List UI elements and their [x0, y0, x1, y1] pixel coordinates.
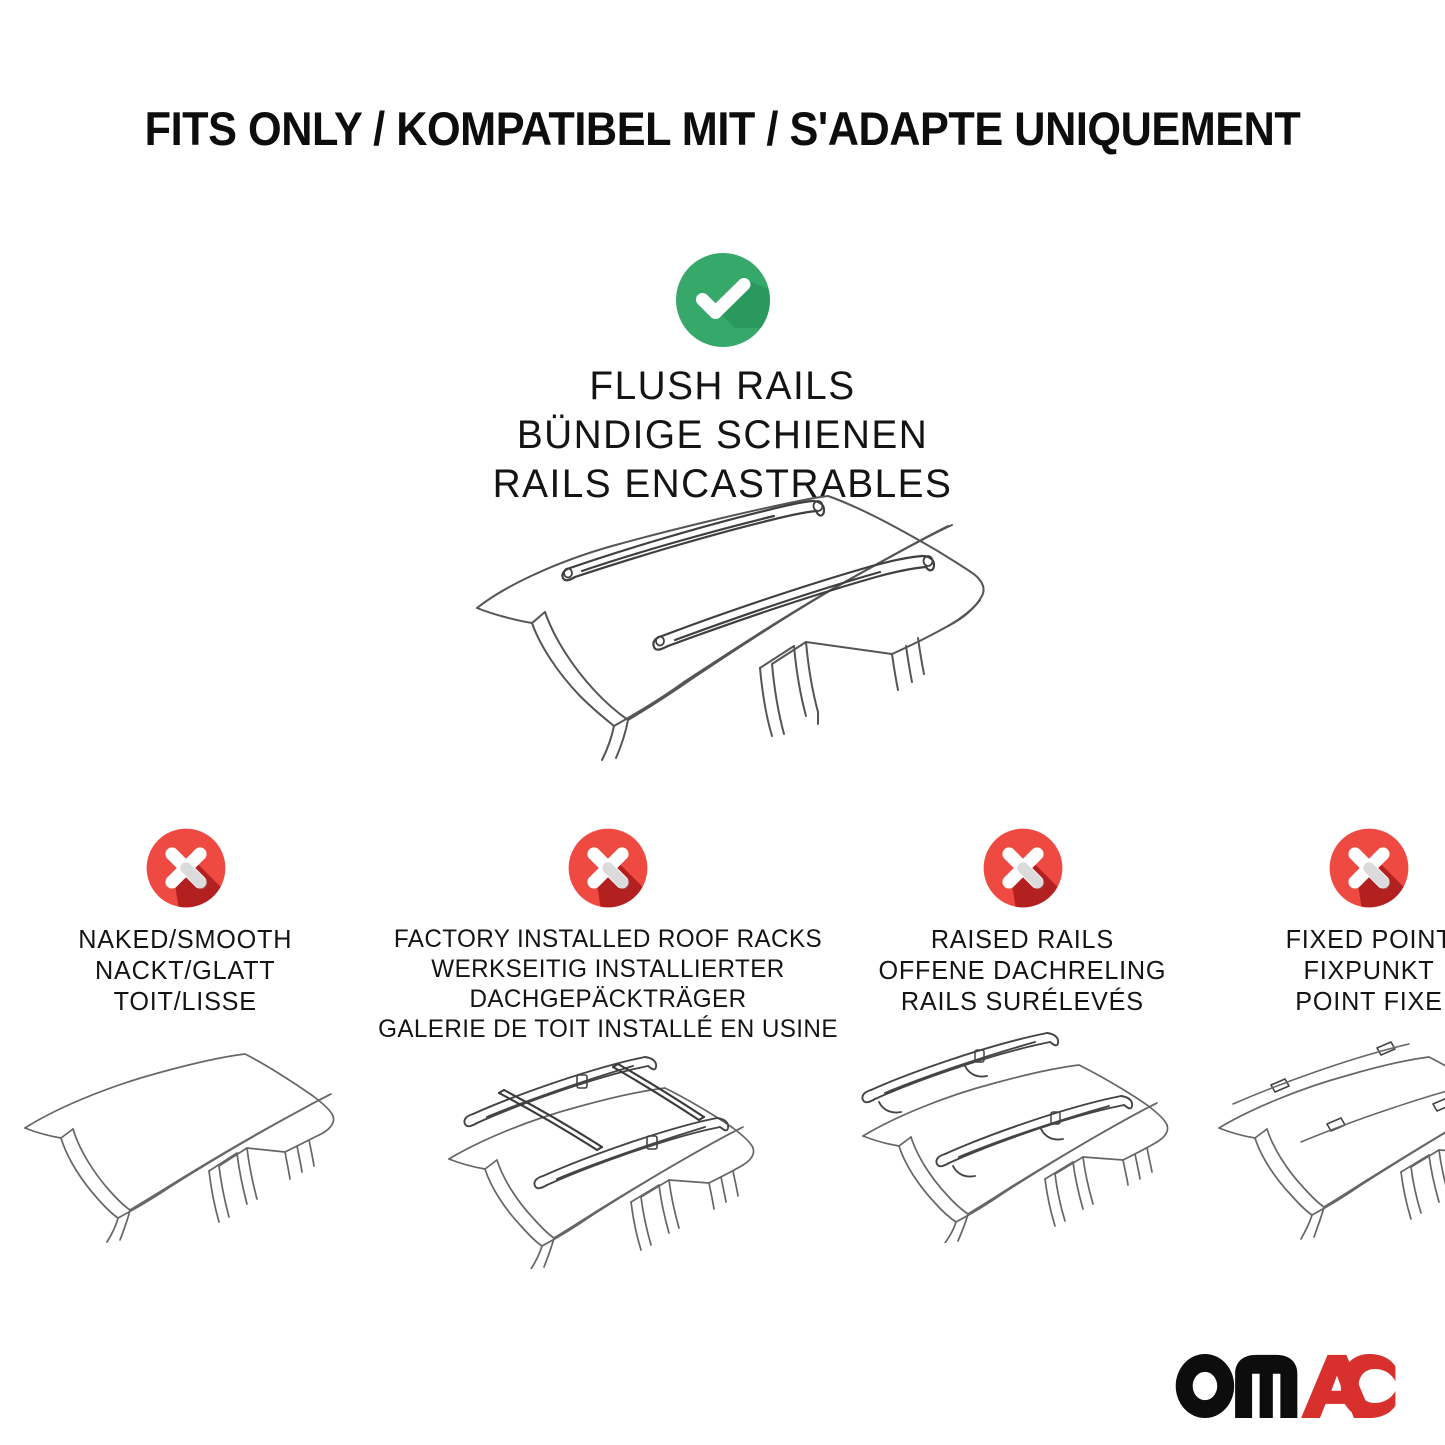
- car-roof-factory-racks-illustration: [431, 1054, 786, 1269]
- item-label-de: WERKSEITIG INSTALLIERTER: [378, 954, 838, 984]
- red-x-circle-icon: [566, 826, 650, 910]
- green-check-circle-icon: [675, 252, 771, 348]
- logo-letter-c: [1340, 1354, 1395, 1418]
- item-label-en: RAISED RAILS: [879, 924, 1167, 955]
- incompatible-section: NAKED/SMOOTH NACKT/GLATT TOIT/LISSE: [0, 826, 1445, 1269]
- logo-letter-m: [1235, 1355, 1297, 1418]
- car-roof-fixed-point-illustration: [1209, 1028, 1445, 1243]
- incompatible-item-factory-racks: FACTORY INSTALLED ROOF RACKS WERKSEITIG …: [371, 826, 845, 1269]
- car-roof-raised-rails-illustration: [845, 1028, 1200, 1243]
- fitment-infographic: FITS ONLY / KOMPATIBEL MIT / S'ADAPTE UN…: [0, 0, 1445, 1445]
- compatible-label-en: FLUSH RAILS: [22, 362, 1424, 411]
- item-labels: RAISED RAILS OFFENE DACHRELING RAILS SUR…: [874, 924, 1171, 1018]
- red-x-circle-icon: [1327, 826, 1411, 910]
- item-label-fr: TOIT/LISSE: [79, 986, 293, 1017]
- logo-letter-o: [1175, 1354, 1233, 1418]
- item-label-de: NACKT/GLATT: [79, 955, 293, 986]
- item-labels: FIXED POINT FIXPUNKT POINT FIXE: [1283, 924, 1445, 1018]
- item-label-en: FACTORY INSTALLED ROOF RACKS: [378, 924, 838, 954]
- car-roof-flush-rails-illustration: [462, 468, 1022, 768]
- incompatible-item-raised-rails: RAISED RAILS OFFENE DACHRELING RAILS SUR…: [845, 826, 1200, 1243]
- item-label-en: NAKED/SMOOTH: [79, 924, 293, 955]
- omac-logo: [1171, 1353, 1397, 1419]
- car-roof-naked-illustration: [13, 1028, 358, 1243]
- item-label-de2: DACHGEPÄCKTRÄGER: [378, 984, 838, 1014]
- item-label-de: OFFENE DACHRELING: [879, 955, 1167, 986]
- red-x-circle-icon: [981, 826, 1065, 910]
- item-label-fr: RAILS SURÉLEVÉS: [879, 986, 1167, 1017]
- red-x-circle-icon: [144, 826, 228, 910]
- item-label-fr: GALERIE DE TOIT INSTALLÉ EN USINE: [378, 1014, 838, 1044]
- incompatible-item-naked-smooth: NAKED/SMOOTH NACKT/GLATT TOIT/LISSE: [0, 826, 371, 1243]
- compatible-label-de: BÜNDIGE SCHIENEN: [22, 411, 1424, 460]
- item-labels: FACTORY INSTALLED ROOF RACKS WERKSEITIG …: [371, 924, 845, 1044]
- incompatible-item-fixed-point: FIXED POINT FIXPUNKT POINT FIXE: [1200, 826, 1445, 1243]
- page-title: FITS ONLY / KOMPATIBEL MIT / S'ADAPTE UN…: [58, 104, 1387, 153]
- item-label-fr: POINT FIXE: [1285, 986, 1445, 1017]
- item-labels: NAKED/SMOOTH NACKT/GLATT TOIT/LISSE: [75, 924, 296, 1018]
- item-label-en: FIXED POINT: [1285, 924, 1445, 955]
- item-label-de: FIXPUNKT: [1285, 955, 1445, 986]
